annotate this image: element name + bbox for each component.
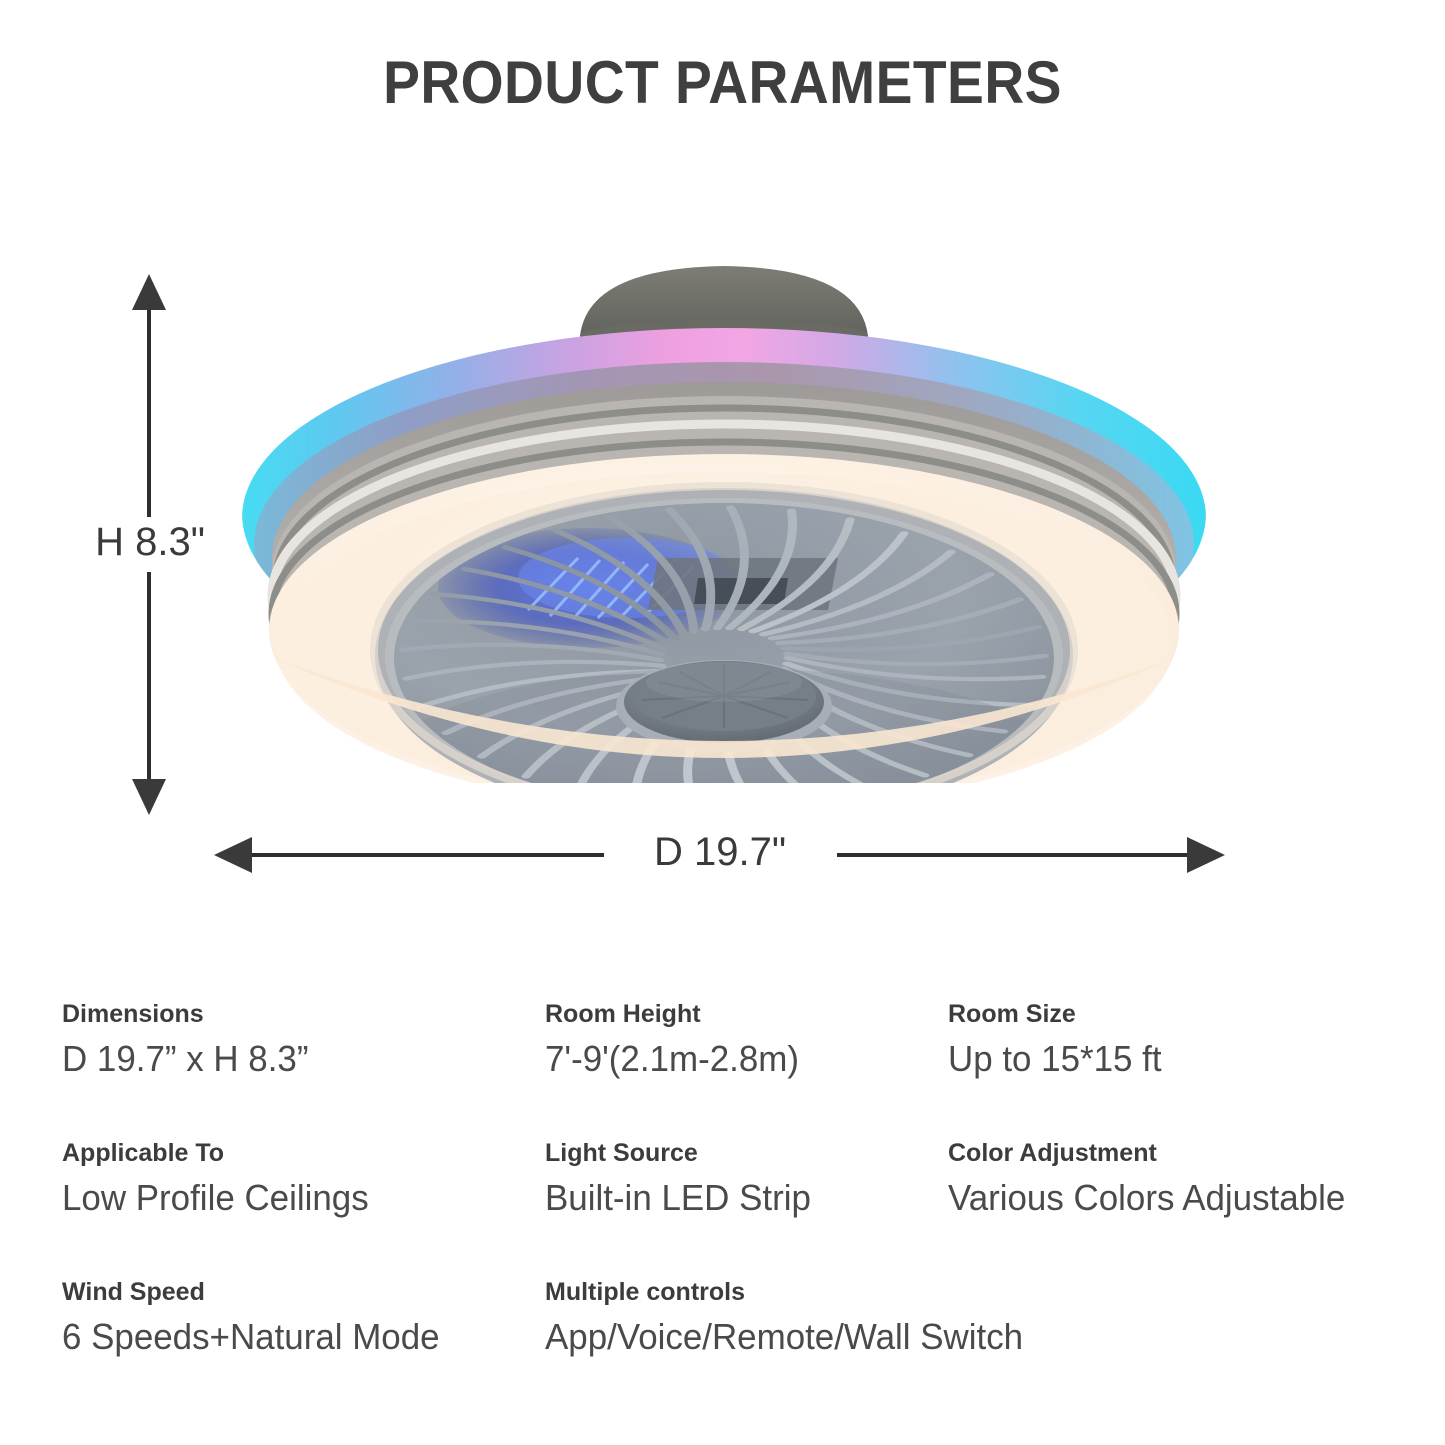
spec-value: App/Voice/Remote/Wall Switch bbox=[545, 1316, 1023, 1358]
spec-row: Wind Speed 6 Speeds+Natural Mode Multipl… bbox=[0, 1278, 1445, 1417]
spec-label: Room Height bbox=[545, 1000, 807, 1029]
spec-label: Applicable To bbox=[62, 1139, 378, 1168]
spec-cell-multiple-controls: Multiple controls App/Voice/Remote/Wall … bbox=[545, 1278, 1038, 1358]
spec-value: Low Profile Ceilings bbox=[62, 1177, 369, 1219]
page-title: PRODUCT PARAMETERS bbox=[58, 48, 1387, 117]
spec-value: 6 Speeds+Natural Mode bbox=[62, 1316, 440, 1358]
spec-label: Room Size bbox=[948, 1000, 1168, 1029]
spec-grid: Dimensions D 19.7” x H 8.3” Room Height … bbox=[0, 1000, 1445, 1417]
diameter-dimension-label: D 19.7" bbox=[560, 830, 880, 875]
spec-label: Light Source bbox=[545, 1139, 819, 1168]
spec-cell-applicable-to: Applicable To Low Profile Ceilings bbox=[62, 1139, 378, 1219]
spec-cell-room-height: Room Height 7'-9'(2.1m-2.8m) bbox=[545, 1000, 807, 1080]
spec-cell-dimensions: Dimensions D 19.7” x H 8.3” bbox=[62, 1000, 316, 1080]
spec-cell-light-source: Light Source Built-in LED Strip bbox=[545, 1139, 819, 1219]
spec-value: Built-in LED Strip bbox=[545, 1177, 811, 1219]
spec-value: D 19.7” x H 8.3” bbox=[62, 1038, 308, 1080]
spec-label: Multiple controls bbox=[545, 1278, 1038, 1307]
fan-assembly bbox=[374, 486, 1074, 783]
spec-label: Wind Speed bbox=[62, 1278, 451, 1307]
spec-cell-color-adjustment: Color Adjustment Various Colors Adjustab… bbox=[948, 1139, 1358, 1219]
spec-label: Color Adjustment bbox=[948, 1139, 1358, 1168]
spec-value: 7'-9'(2.1m-2.8m) bbox=[545, 1038, 799, 1080]
spec-value: Up to 15*15 ft bbox=[948, 1038, 1162, 1080]
height-dimension-label: H 8.3" bbox=[60, 520, 240, 565]
spec-row: Applicable To Low Profile Ceilings Light… bbox=[0, 1139, 1445, 1278]
spec-row: Dimensions D 19.7” x H 8.3” Room Height … bbox=[0, 1000, 1445, 1139]
spec-cell-room-size: Room Size Up to 15*15 ft bbox=[948, 1000, 1168, 1080]
ceiling-fan-product-image bbox=[228, 258, 1220, 783]
fan-hub bbox=[616, 660, 832, 752]
spec-value: Various Colors Adjustable bbox=[948, 1177, 1345, 1219]
spec-cell-wind-speed: Wind Speed 6 Speeds+Natural Mode bbox=[62, 1278, 451, 1358]
spec-label: Dimensions bbox=[62, 1000, 316, 1029]
